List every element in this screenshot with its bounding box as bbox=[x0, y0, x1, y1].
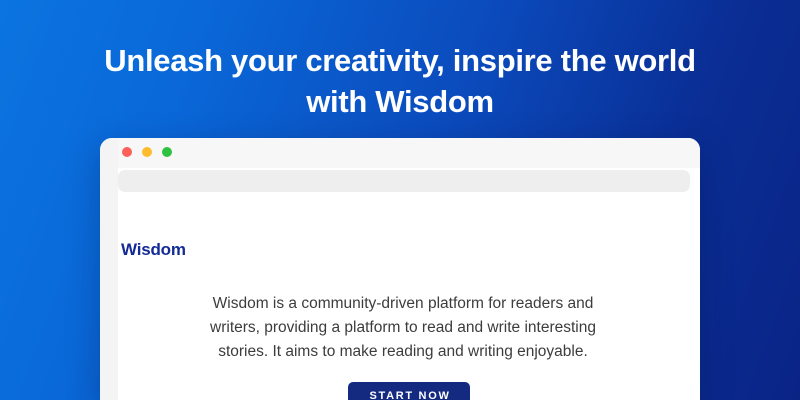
maximize-window-icon[interactable] bbox=[162, 147, 172, 157]
close-window-icon[interactable] bbox=[122, 147, 132, 157]
minimize-window-icon[interactable] bbox=[142, 147, 152, 157]
browser-content-area: Wisdom Wisdom is a community-driven plat… bbox=[118, 194, 700, 400]
cta-container: START NOW bbox=[118, 382, 700, 400]
window-controls bbox=[122, 147, 172, 157]
site-title: Wisdom bbox=[121, 240, 186, 260]
browser-titlebar bbox=[100, 138, 700, 168]
start-now-button[interactable]: START NOW bbox=[348, 382, 469, 400]
browser-titlebar-inner bbox=[118, 138, 700, 168]
address-bar[interactable] bbox=[118, 170, 690, 192]
hero-section: Unleash your creativity, inspire the wor… bbox=[0, 0, 800, 400]
browser-mockup-card: Wisdom Wisdom is a community-driven plat… bbox=[100, 138, 700, 400]
description-box: Wisdom is a community-driven platform fo… bbox=[186, 282, 620, 374]
page-headline: Unleash your creativity, inspire the wor… bbox=[0, 40, 800, 122]
description-text: Wisdom is a community-driven platform fo… bbox=[193, 292, 613, 363]
